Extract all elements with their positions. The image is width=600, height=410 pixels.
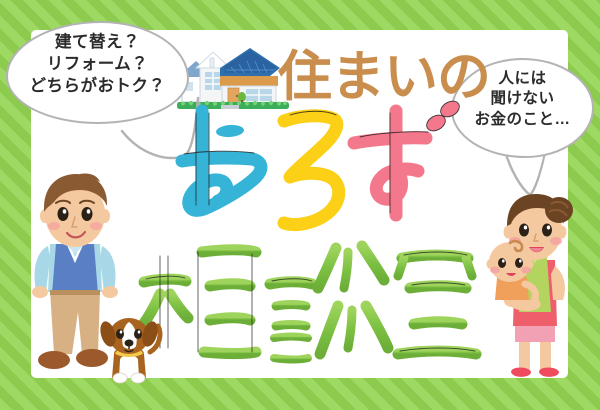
question-bubble-left: 建て替え？ リフォーム？ どちらがおトク？ (6, 21, 189, 124)
bubble-left-line-3: どちらがおトク？ (8, 76, 187, 98)
house-with-solar-panels-icon (174, 42, 292, 114)
bubble-left-line-1: 建て替え？ (8, 32, 187, 54)
title-main-yorozu (178, 105, 468, 235)
dog-character (96, 312, 164, 384)
title-sub-soudanshitsu (140, 232, 480, 367)
char-yo (182, 111, 261, 210)
title-prefix: 住まいの (278, 50, 490, 104)
kanji-shitsu (398, 240, 476, 354)
baby-character (483, 238, 543, 308)
bubble-right-line-3: お金のこと… (453, 110, 592, 130)
bubble-left-line-2: リフォーム？ (8, 54, 187, 76)
char-ro (284, 116, 339, 225)
kanji-dan (270, 244, 388, 360)
banner-stage: 建て替え？ リフォーム？ どちらがおトク？ 人には 聞けない お金のこと… 住ま… (0, 0, 600, 410)
